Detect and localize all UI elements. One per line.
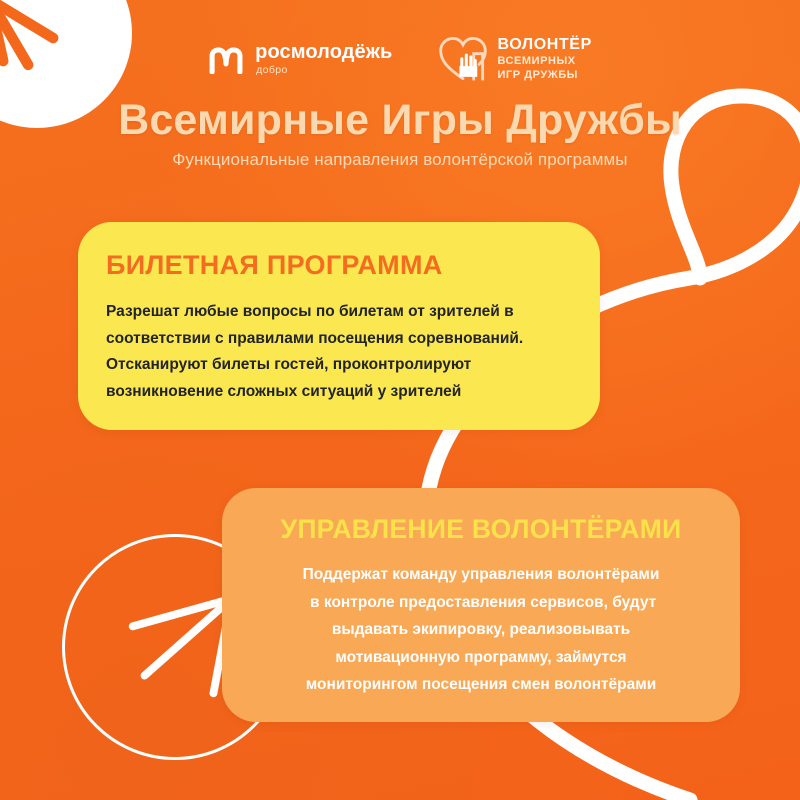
logo-rosmolodezh: росмолодёжь добро — [208, 42, 392, 76]
card-ticket-program-body: Разрешат любые вопросы по билетам от зри… — [106, 299, 572, 406]
logo-volunteer: ВОЛОНТЁР ВСЕМИРНЫХ ИГР ДРУЖБЫ — [438, 34, 591, 84]
logo-volunteer-line2: ВСЕМИРНЫХ — [497, 56, 591, 68]
card-volunteer-management-body: Поддержат команду управления волонтёрами… — [248, 561, 714, 699]
card-ticket-program-line: Отсканируют билеты гостей, проконтролиру… — [106, 352, 572, 379]
card-ticket-program: БИЛЕТНАЯ ПРОГРАММА Разрешат любые вопрос… — [78, 222, 600, 430]
poster-canvas: росмолодёжь добро ВО — [0, 0, 800, 800]
logo-volunteer-line1: ВОЛОНТЁР — [497, 36, 591, 53]
heart-hand-icon — [438, 34, 488, 84]
page-title: Всемирные Игры Дружбы — [0, 98, 800, 143]
logo-rosmolodezh-secondary: добро — [256, 65, 392, 76]
card-volunteer-management-line: Поддержат команду управления волонтёрами — [248, 561, 714, 589]
card-volunteer-management: УПРАВЛЕНИЕ ВОЛОНТЁРАМИ Поддержат команду… — [222, 488, 740, 722]
card-volunteer-management-line: в контроле предоставления сервисов, буду… — [248, 589, 714, 617]
logo-rosmolodezh-words: росмолодёжь добро — [255, 42, 392, 76]
poster-header: росмолодёжь добро ВО — [0, 0, 800, 170]
card-volunteer-management-line: мониторингом посещения смен волонтёрами — [248, 671, 714, 699]
card-ticket-program-line: Разрешат любые вопросы по билетам от зри… — [106, 299, 572, 326]
card-volunteer-management-line: мотивационную программу, займутся — [248, 644, 714, 672]
logo-volunteer-line3: ИГР ДРУЖБЫ — [497, 70, 591, 82]
card-ticket-program-title: БИЛЕТНАЯ ПРОГРАММА — [106, 250, 572, 281]
logo-rosmolodezh-primary: росмолодёжь — [255, 42, 392, 62]
card-ticket-program-line: возникновение сложных ситуаций у зрителе… — [106, 379, 572, 406]
logo-row: росмолодёжь добро ВО — [0, 0, 800, 84]
rosmolodezh-m-mark-icon — [208, 44, 244, 74]
page-subtitle: Функциональные направления волонтёрской … — [0, 150, 800, 170]
card-volunteer-management-title: УПРАВЛЕНИЕ ВОЛОНТЁРАМИ — [248, 514, 714, 545]
card-volunteer-management-line: выдавать экипировку, реализовывать — [248, 616, 714, 644]
logo-volunteer-words: ВОЛОНТЁР ВСЕМИРНЫХ ИГР ДРУЖБЫ — [497, 36, 591, 81]
card-ticket-program-line: соответствии с правилами посещения сорев… — [106, 326, 572, 353]
